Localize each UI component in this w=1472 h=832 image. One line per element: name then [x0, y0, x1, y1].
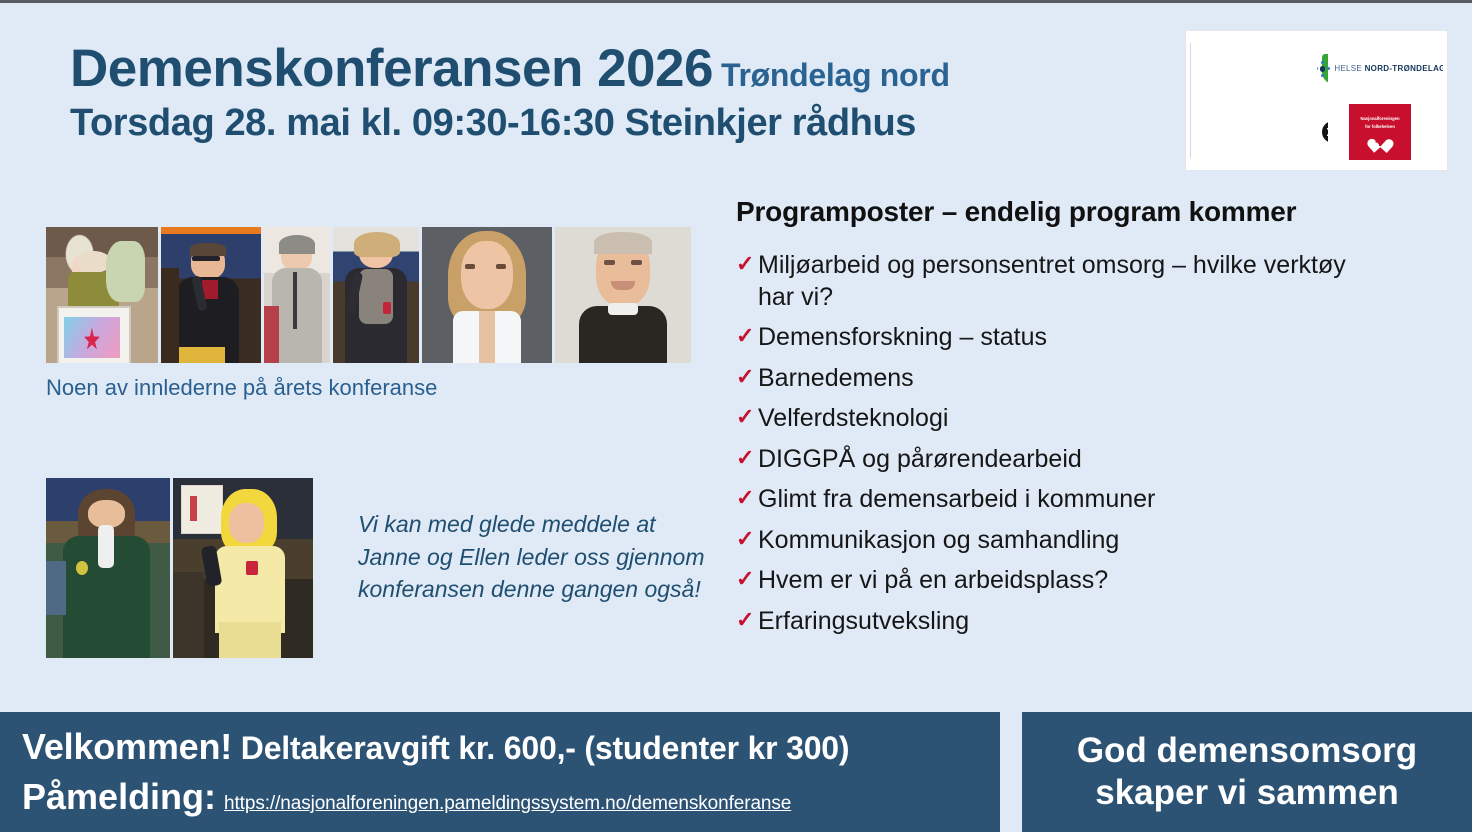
page-title: Demenskonferansen 2026: [70, 39, 713, 98]
slogan-banner: God demensomsorg skaper vi sammen: [1022, 712, 1472, 832]
program-item-label: Velferdsteknologi: [758, 403, 948, 435]
program-section: Programposter – endelig program kommer ✓…: [736, 196, 1452, 646]
program-item-label: Barnedemens: [758, 363, 914, 395]
speaker-photo: [161, 227, 261, 363]
speaker-photo: [555, 227, 691, 363]
title-row: Demenskonferansen 2026Trøndelag nord: [70, 42, 1110, 96]
program-list-item: ✓ Velferdsteknologi: [736, 403, 1452, 435]
speaker-photo: [46, 227, 158, 363]
check-icon: ✓: [736, 403, 758, 431]
helse-logo-group: HELSE NORD-TRØNDELAG: [1317, 61, 1443, 77]
program-list-item: ✓ Hvem er vi på en arbeidsplass?: [736, 565, 1452, 597]
program-list-item: ✓ DIGGPÅ og pårørendearbeid: [736, 444, 1452, 476]
program-list-item: ✓ Barnedemens: [736, 363, 1452, 395]
event-datetime-venue: Torsdag 28. mai kl. 09:30-16:30 Steinkje…: [70, 102, 1110, 145]
welcome-label: Velkommen!: [22, 726, 232, 767]
logo-panel-divider: [1190, 43, 1191, 158]
conference-poster: Demenskonferansen 2026Trøndelag nord Tor…: [0, 0, 1472, 832]
heart-cross-icon: [1372, 133, 1389, 149]
registration-banner: Velkommen! Deltakeravgift kr. 600,- (stu…: [0, 712, 1000, 832]
check-icon: ✓: [736, 606, 758, 634]
program-list-item: ✓ Kommunikasjon og samhandling: [736, 525, 1452, 557]
signup-line: Påmelding: https://nasjonalforeningen.pa…: [22, 776, 1000, 818]
slogan-line-1: God demensomsorg: [1077, 730, 1417, 772]
hosts-note: Vi kan med glede meddele at Janne og Ell…: [358, 508, 718, 606]
program-heading: Programposter – endelig program kommer: [736, 196, 1452, 228]
title-region: Trøndelag nord: [721, 57, 950, 93]
program-list-item: ✓ Glimt fra demensarbeid i kommuner: [736, 484, 1452, 516]
helse-wordmark: HELSE NORD-TRØNDELAG: [1334, 64, 1443, 73]
program-list-item: ✓ Miljøarbeid og personsentret omsorg – …: [736, 250, 1452, 313]
check-icon: ✓: [736, 363, 758, 391]
check-icon: ✓: [736, 565, 758, 593]
check-icon: ✓: [736, 484, 758, 512]
program-item-label: Demensforskning – status: [758, 322, 1047, 354]
program-item-label: Kommunikasjon og samhandling: [758, 525, 1119, 557]
organizer-logo-panel: Utviklingssenter for sykehjem og hjemmet…: [1185, 30, 1448, 171]
host-photo: [173, 478, 313, 658]
fee-label: Deltakeravgift kr. 600,- (studenter kr 3…: [241, 730, 850, 766]
host-photo: [46, 478, 170, 658]
helse-word-light: HELSE: [1334, 64, 1364, 73]
check-icon: ✓: [736, 444, 758, 472]
logo-nasjonalforeningen: Nasjonalforeningen for folkehelsen: [1317, 101, 1443, 165]
poster-header: Demenskonferansen 2026Trøndelag nord Tor…: [70, 42, 1110, 145]
speaker-photo-strip: [46, 227, 691, 363]
speakers-caption: Noen av innlederne på årets konferanse: [46, 375, 437, 401]
check-icon: ✓: [736, 525, 758, 553]
program-list-item: ✓ Erfaringsutveksling: [736, 606, 1452, 638]
logo-helse-nord-trondelag: HELSE NORD-TRØNDELAG: [1317, 37, 1443, 101]
slogan-line-2: skaper vi sammen: [1095, 772, 1399, 814]
helse-word-bold: NORD-TRØNDELAG: [1365, 64, 1443, 73]
program-item-label: DIGGPÅ og pårørendearbeid: [758, 444, 1082, 476]
program-item-label: Miljøarbeid og personsentret omsorg – hv…: [758, 250, 1368, 313]
program-item-label: Glimt fra demensarbeid i kommuner: [758, 484, 1155, 516]
program-item-label: Erfaringsutveksling: [758, 606, 969, 638]
program-list-item: ✓ Demensforskning – status: [736, 322, 1452, 354]
top-border-rule: [0, 0, 1472, 3]
nasjonalforeningen-box: Nasjonalforeningen for folkehelsen: [1349, 104, 1411, 160]
nasjonalforeningen-line2: for folkehelsen: [1365, 124, 1395, 129]
helse-dots-icon: [1317, 61, 1330, 77]
welcome-fee-line: Velkommen! Deltakeravgift kr. 600,- (stu…: [22, 726, 1000, 768]
speaker-photo: [333, 227, 419, 363]
signup-label: Påmelding:: [22, 776, 216, 818]
speaker-photo: [264, 227, 330, 363]
signup-url-link[interactable]: https://nasjonalforeningen.pameldingssys…: [224, 793, 791, 815]
speaker-photo: [422, 227, 552, 363]
host-photo-row: [46, 478, 313, 658]
program-item-label: Hvem er vi på en arbeidsplass?: [758, 565, 1108, 597]
check-icon: ✓: [736, 322, 758, 350]
nasjonalforeningen-line1: Nasjonalforeningen: [1360, 116, 1399, 121]
check-icon: ✓: [736, 250, 758, 278]
